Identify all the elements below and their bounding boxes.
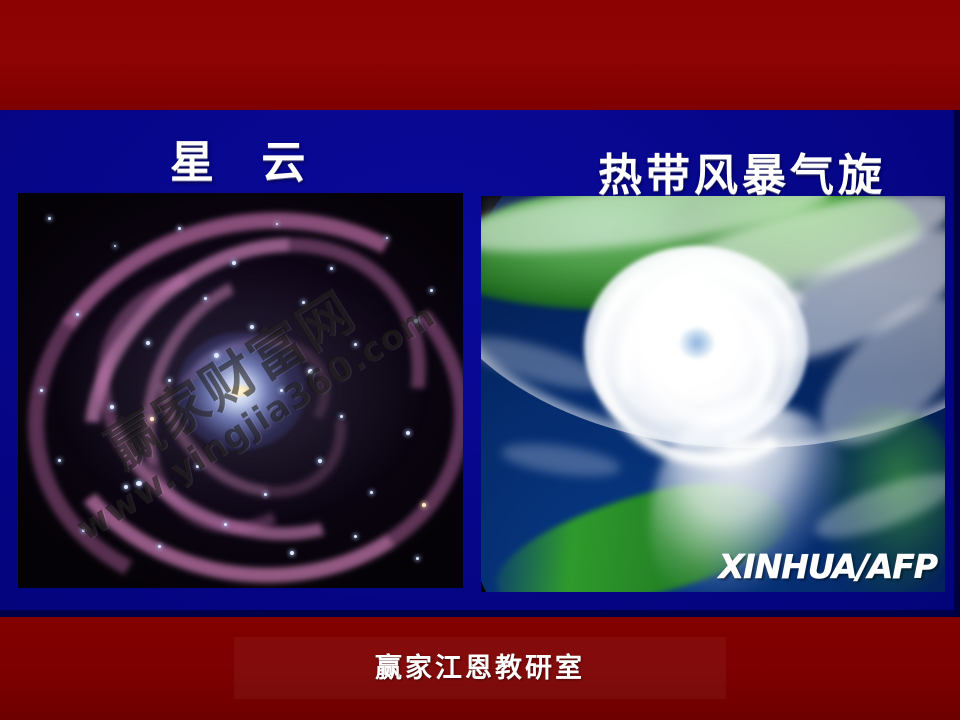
photo-credit-watermark: XINHUA/AFP xyxy=(719,547,937,586)
tropical-cyclone-image: XINHUA/AFP xyxy=(481,196,945,592)
footer-label: 赢家江恩教研室 xyxy=(234,646,726,685)
right-image-title: 热带风暴气旋 xyxy=(598,139,886,203)
panel-right-edge xyxy=(954,110,960,617)
nebula-image: 赢家财富网 www.yingjia360.com xyxy=(18,193,463,588)
nebula-star-field xyxy=(18,193,463,588)
panel-bottom-edge xyxy=(0,610,960,617)
presentation-slide: 星 云 热带风暴气旋 xyxy=(0,0,960,720)
top-red-band xyxy=(0,0,960,110)
left-image-title: 星 云 xyxy=(170,126,321,190)
cyclone-eye xyxy=(680,328,714,358)
